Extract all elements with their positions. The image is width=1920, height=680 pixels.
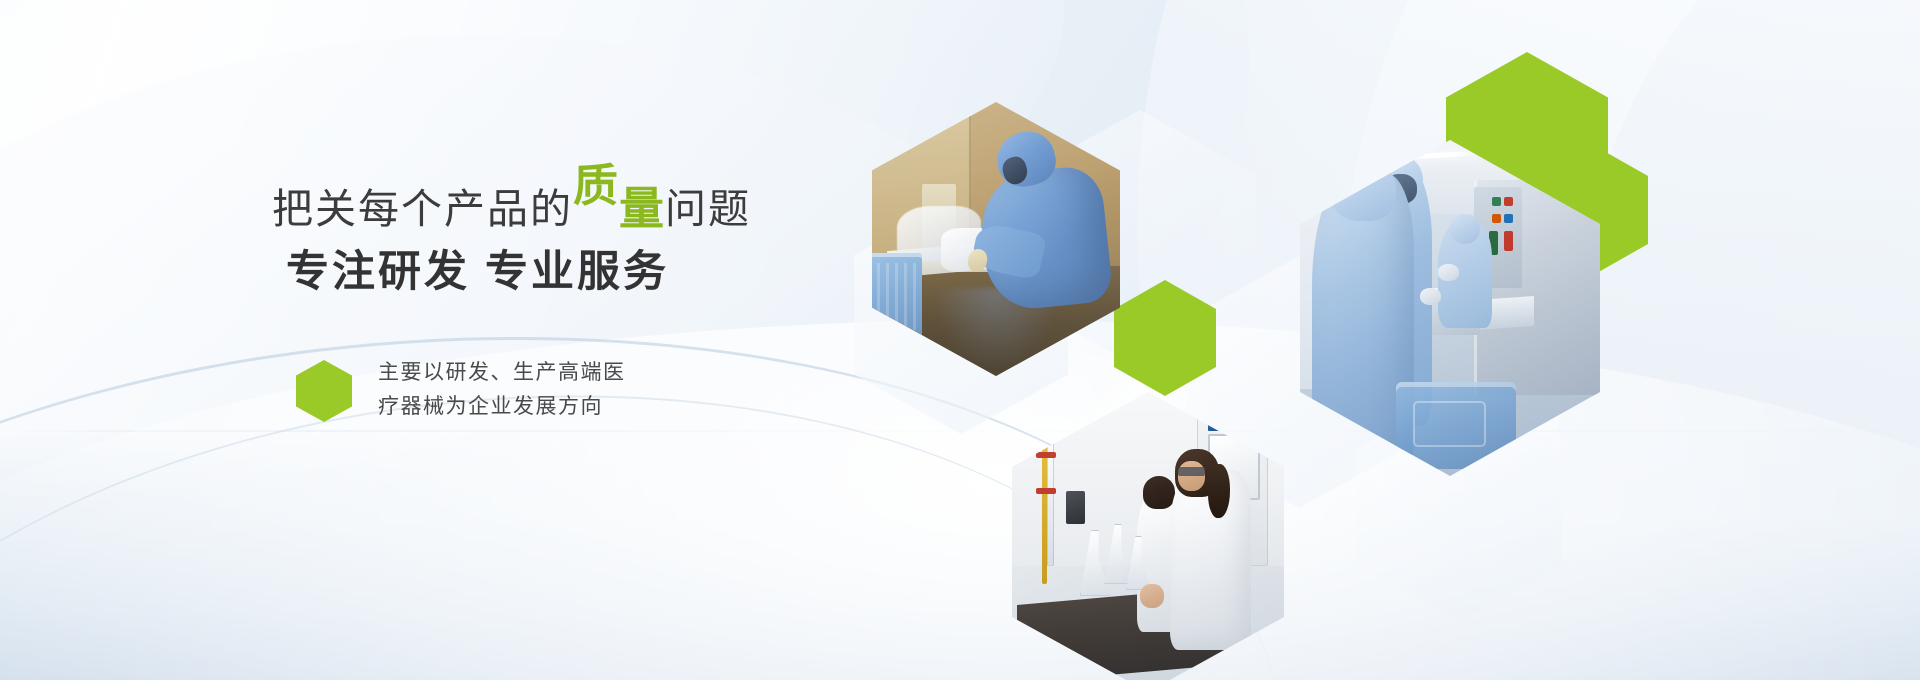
subtext: 主要以研发、生产高端医 疗器械为企业发展方向 <box>378 356 626 424</box>
headline-prefix: 把关每个产品的 <box>272 189 573 230</box>
subtext-line-1: 主要以研发、生产高端医 <box>378 356 626 390</box>
hero-banner: 把关每个产品的 质 量 问题 专注研发 专业服务 主要以研发、生产高端医 疗器械… <box>0 0 1920 680</box>
banner-copy: 把关每个产品的 质 量 问题 专注研发 专业服务 主要以研发、生产高端医 疗器械… <box>0 0 1920 680</box>
subtext-line-2: 疗器械为企业发展方向 <box>378 390 626 424</box>
headline-line-2: 专注研发 专业服务 <box>286 251 669 294</box>
headline-line-1: 把关每个产品的 质 量 问题 <box>272 185 751 230</box>
hexagon-bullet-icon <box>296 360 352 422</box>
headline-suffix: 问题 <box>665 189 751 230</box>
subtext-block: 主要以研发、生产高端医 疗器械为企业发展方向 <box>296 356 626 424</box>
headline-accent-quality-second: 量 <box>619 186 665 231</box>
headline-accent-quality-first: 质 <box>573 163 619 208</box>
